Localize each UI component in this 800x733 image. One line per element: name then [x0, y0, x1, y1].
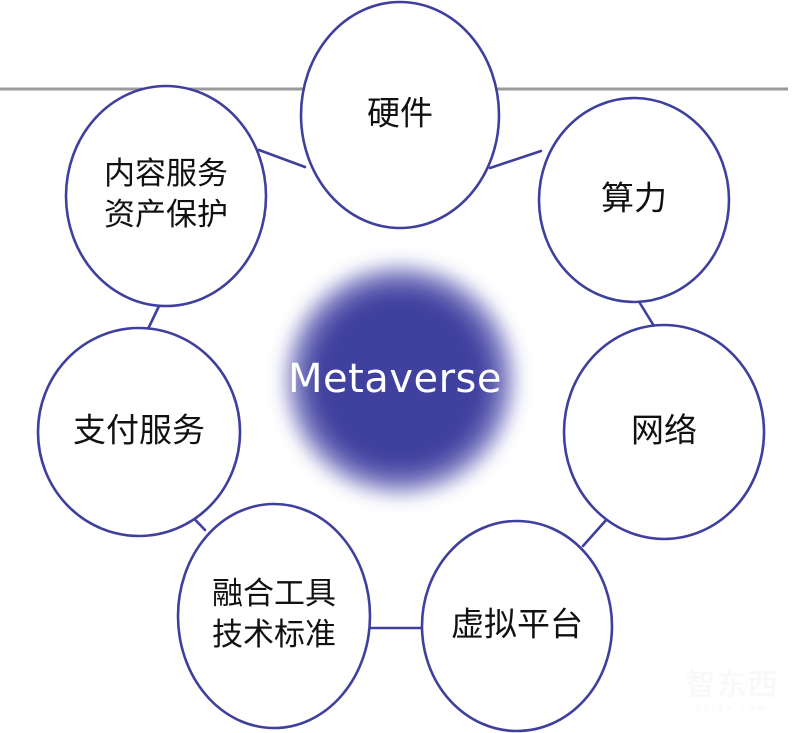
node-label-computing-power: 算力: [601, 179, 667, 218]
node-computing-power[interactable]: 算力: [539, 98, 729, 302]
node-label-virtual-platform: 虚拟平台: [451, 605, 583, 644]
node-label-content-service-line2: 资产保护: [104, 197, 228, 233]
node-network[interactable]: 网络: [564, 325, 764, 539]
node-hardware[interactable]: 硬件: [301, 2, 499, 228]
node-label-hardware: 硬件: [367, 94, 433, 133]
node-label-fusion-tools-line2: 技术标准: [212, 617, 336, 653]
node-label-fusion-tools-line1: 融合工具: [212, 576, 336, 612]
metaverse-diagram: Metaverse 硬件算力网络虚拟平台融合工具技术标准支付服务内容服务资产保护…: [0, 0, 800, 733]
node-label-payment-service: 支付服务: [73, 411, 205, 450]
center-hub: Metaverse: [272, 252, 528, 508]
connector-computing-to-network: [638, 300, 654, 326]
connector-payment-to-content: [148, 304, 160, 329]
connector-hardware-to-computing: [490, 151, 541, 168]
node-shape-fusion-tools[interactable]: [178, 504, 370, 728]
node-content-service[interactable]: 内容服务资产保护: [66, 86, 266, 306]
connector-network-to-virtual: [583, 519, 607, 546]
connector-content-to-hardware: [259, 150, 305, 167]
node-shape-content-service[interactable]: [66, 86, 266, 306]
node-fusion-tools[interactable]: 融合工具技术标准: [178, 504, 370, 728]
node-label-content-service-line1: 内容服务: [104, 156, 228, 192]
node-label-network: 网络: [631, 411, 697, 450]
node-payment-service[interactable]: 支付服务: [38, 328, 240, 536]
center-hub-label: Metaverse: [288, 356, 502, 402]
node-virtual-platform[interactable]: 虚拟平台: [422, 521, 612, 731]
diagram-canvas: Metaverse 硬件算力网络虚拟平台融合工具技术标准支付服务内容服务资产保护: [0, 0, 800, 733]
